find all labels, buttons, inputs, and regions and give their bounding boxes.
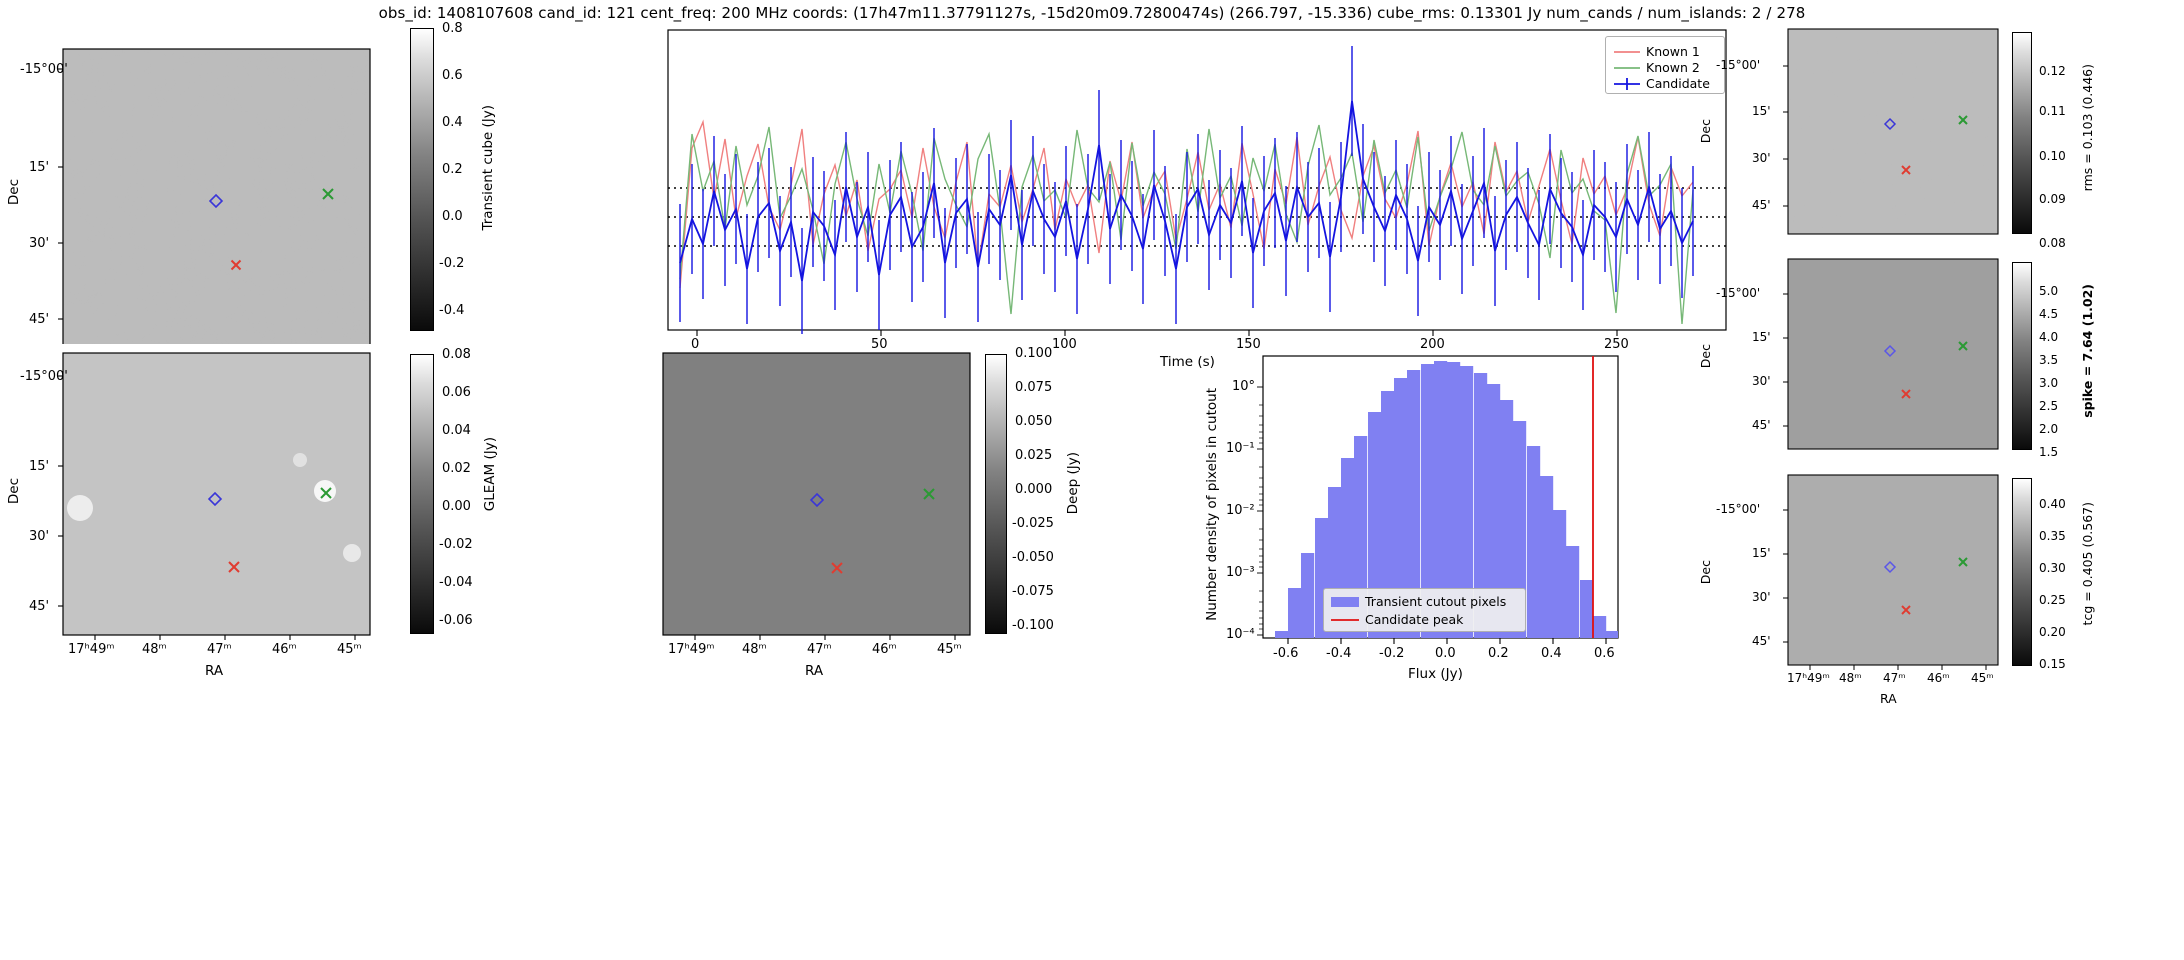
rms-dec-tick-1: 15' xyxy=(1752,104,1771,118)
cbar-deep-tick-2: 0.050 xyxy=(1015,414,1052,429)
gleam-ra-tick-0: 17ʰ49ᵐ xyxy=(68,642,114,657)
panel-rms-map[interactable]: -15°00' 15' 30' 45' Dec 0.12 0.11 0.10 0… xyxy=(1780,24,2184,244)
lightcurve-legend[interactable]: Known 1 Known 2 Candidate xyxy=(1605,36,1725,94)
rms-map-svg[interactable] xyxy=(1780,24,2184,244)
deep-ra-tick-0: 17ʰ49ᵐ xyxy=(668,642,714,657)
cbar-gleam-tick-5: -0.02 xyxy=(439,537,473,552)
deep-ra-tick-4: 45ᵐ xyxy=(937,642,962,657)
gleam-ra-tick-1: 48ᵐ xyxy=(142,642,167,657)
cbar-rms-tick-1: 0.11 xyxy=(2039,104,2066,118)
hist-ytick-0: 10° xyxy=(1232,379,1255,394)
figure-canvas: obs_id: 1408107608 cand_id: 121 cent_fre… xyxy=(0,0,2184,960)
deep-ra-tick-1: 48ᵐ xyxy=(742,642,767,657)
spike-map-svg[interactable] xyxy=(1780,256,2184,461)
spike-dec-tick-0: -15°00' xyxy=(1716,286,1760,300)
cbar-rms-tick-2: 0.10 xyxy=(2039,149,2066,163)
figure-title: obs_id: 1408107608 cand_id: 121 cent_fre… xyxy=(0,4,2184,22)
cbar-deep-tick-3: 0.025 xyxy=(1015,448,1052,463)
cbar-gleam-tick-1: 0.06 xyxy=(442,385,471,400)
legend-item-known1[interactable]: Known 1 xyxy=(1612,45,1720,59)
lightcurve-svg[interactable] xyxy=(620,24,1740,354)
hist-xtick-2: -0.2 xyxy=(1379,646,1404,661)
cbar-gleam-tick-7: -0.06 xyxy=(439,613,473,628)
tcg-ra-tick-3: 46ᵐ xyxy=(1927,671,1950,685)
hist-ytick-2: 10⁻² xyxy=(1226,503,1255,518)
cbar-deep-tick-8: -0.100 xyxy=(1012,618,1054,633)
hist-xtick-4: 0.2 xyxy=(1488,646,1509,661)
cbar-spike-tick-6: 2.0 xyxy=(2039,422,2058,436)
panel-lightcurve[interactable]: Known 1 Known 2 Candidate 0 50 100 150 2… xyxy=(620,24,1740,354)
hist-yaxis-label: Number density of pixels in cutout xyxy=(1204,388,1220,621)
cbar-deep-tick-7: -0.075 xyxy=(1012,584,1054,599)
gleam-ra-axis-label: RA xyxy=(205,663,223,679)
gleam-dec-tick-0: -15°00' xyxy=(20,369,68,384)
tcg-map-svg[interactable] xyxy=(1780,472,2184,687)
cbar-rms-tick-4: 0.08 xyxy=(2039,236,2066,250)
deep-ra-axis-label: RA xyxy=(805,663,823,679)
rms-dec-tick-0: -15°00' xyxy=(1716,58,1760,72)
cbar-spike-tick-1: 4.5 xyxy=(2039,307,2058,321)
hist-legend-label-pixels: Transient cutout pixels xyxy=(1365,594,1506,609)
cbar-tcg-tick-5: 0.15 xyxy=(2039,657,2066,671)
gleam-dec-tick-1: 15' xyxy=(29,459,49,474)
legend-label-candidate: Candidate xyxy=(1646,76,1710,91)
colorbar-spike[interactable] xyxy=(2012,262,2032,450)
cbar-spike-tick-7: 1.5 xyxy=(2039,445,2058,459)
legend-item-known2[interactable]: Known 2 xyxy=(1612,61,1720,75)
gleam-ra-tick-3: 46ᵐ xyxy=(272,642,297,657)
hist-xtick-3: 0.0 xyxy=(1435,646,1456,661)
gleam-dec-tick-3: 45' xyxy=(29,599,49,614)
rms-dec-axis-label: Dec xyxy=(1698,119,1713,143)
cbar-gleam-label: GLEAM (Jy) xyxy=(482,437,498,511)
colorbar-rms[interactable] xyxy=(2012,32,2032,234)
cbar-tcg-tick-1: 0.35 xyxy=(2039,529,2066,543)
cbar-rms-tick-0: 0.12 xyxy=(2039,64,2066,78)
legend-item-candidate[interactable]: Candidate xyxy=(1612,77,1720,91)
panel-tcg-map[interactable]: -15°00' 15' 30' 45' Dec 17ʰ49ᵐ 48ᵐ 47ᵐ 4… xyxy=(1780,472,2184,687)
cbar-gleam-tick-6: -0.04 xyxy=(439,575,473,590)
cbar-deep-tick-0: 0.100 xyxy=(1015,346,1052,361)
cbar-gleam-tick-3: 0.02 xyxy=(442,461,471,476)
dec-axis-label: Dec xyxy=(6,179,22,205)
dec-tick-0: -15°00' xyxy=(20,62,68,77)
gleam-dec-axis-label: Dec xyxy=(6,478,22,504)
cbar-tc-tick-6: -0.4 xyxy=(439,303,464,318)
cbar-rms-tick-3: 0.09 xyxy=(2039,192,2066,206)
colorbar-transient-cube[interactable]: 0.8 0.6 0.4 0.2 0.0 -0.2 -0.4 Transient … xyxy=(410,25,500,340)
rms-dec-tick-2: 30' xyxy=(1752,151,1771,165)
hist-legend-label-peak: Candidate peak xyxy=(1365,612,1463,627)
hist-ytick-3: 10⁻³ xyxy=(1226,565,1255,580)
panel-spike-map[interactable]: -15°00' 15' 30' 45' Dec 5.0 4.5 4.0 3.5 … xyxy=(1780,256,2184,461)
cbar-tcg-tick-4: 0.20 xyxy=(2039,625,2066,639)
cbar-tcg-tick-0: 0.40 xyxy=(2039,497,2066,511)
cbar-spike-label: spike = 7.64 (1.02) xyxy=(2080,284,2095,418)
cbar-deep-tick-1: 0.075 xyxy=(1015,380,1052,395)
legend-label-known1: Known 1 xyxy=(1646,44,1700,59)
hist-xtick-1: -0.4 xyxy=(1326,646,1351,661)
gleam-ra-tick-4: 45ᵐ xyxy=(337,642,362,657)
cbar-tcg-tick-3: 0.25 xyxy=(2039,593,2066,607)
cbar-deep-tick-6: -0.050 xyxy=(1012,550,1054,565)
spike-dec-axis-label: Dec xyxy=(1698,344,1713,368)
cbar-tcg-tick-2: 0.30 xyxy=(2039,561,2066,575)
cbar-deep-tick-5: -0.025 xyxy=(1012,516,1054,531)
cbar-tc-tick-0: 0.8 xyxy=(442,21,463,36)
tcg-ra-tick-0: 17ʰ49ᵐ xyxy=(1787,671,1830,685)
tcg-ra-tick-1: 48ᵐ xyxy=(1839,671,1862,685)
tcg-dec-tick-1: 15' xyxy=(1752,546,1771,560)
cbar-spike-tick-2: 4.0 xyxy=(2039,330,2058,344)
cbar-tc-tick-3: 0.2 xyxy=(442,162,463,177)
cbar-tc-tick-1: 0.6 xyxy=(442,68,463,83)
histogram-legend[interactable]: Transient cutout pixels Candidate peak xyxy=(1323,588,1526,632)
tcg-dec-tick-0: -15°00' xyxy=(1716,502,1760,516)
cbar-rms-label: rms = 0.103 (0.446) xyxy=(2080,64,2095,191)
cbar-tc-tick-5: -0.2 xyxy=(439,256,464,271)
spike-dec-tick-3: 45' xyxy=(1752,418,1771,432)
cbar-spike-tick-5: 2.5 xyxy=(2039,399,2058,413)
colorbar-deep[interactable]: 0.100 0.075 0.050 0.025 0.000 -0.025 -0.… xyxy=(985,352,1095,642)
spike-dec-tick-2: 30' xyxy=(1752,374,1771,388)
rms-dec-tick-3: 45' xyxy=(1752,198,1771,212)
hist-ytick-1: 10⁻¹ xyxy=(1226,441,1255,456)
dec-tick-1: 15' xyxy=(29,160,49,175)
cbar-gleam-tick-0: 0.08 xyxy=(442,347,471,362)
hist-xtick-0: -0.6 xyxy=(1273,646,1298,661)
gleam-dec-tick-2: 30' xyxy=(29,529,49,544)
cbar-tcg-label: tcg = 0.405 (0.567) xyxy=(2080,502,2095,625)
cbar-gleam-tick-2: 0.04 xyxy=(442,423,471,438)
dec-tick-2: 30' xyxy=(29,236,49,251)
hist-xtick-6: 0.6 xyxy=(1594,646,1615,661)
cbar-spike-tick-0: 5.0 xyxy=(2039,284,2058,298)
spike-dec-tick-1: 15' xyxy=(1752,330,1771,344)
deep-ra-tick-2: 47ᵐ xyxy=(807,642,832,657)
legend-label-known2: Known 2 xyxy=(1646,60,1700,75)
panel-flux-histogram[interactable]: 10° 10⁻¹ 10⁻² 10⁻³ 10⁻⁴ Number density o… xyxy=(1118,348,1778,683)
hist-ytick-4: 10⁻⁴ xyxy=(1226,627,1255,642)
cbar-tc-tick-2: 0.4 xyxy=(442,115,463,130)
hist-xtick-5: 0.4 xyxy=(1541,646,1562,661)
hist-xaxis-label: Flux (Jy) xyxy=(1408,666,1463,682)
tcg-ra-axis-label: RA xyxy=(1880,691,1897,706)
gleam-ra-tick-2: 47ᵐ xyxy=(207,642,232,657)
tcg-ra-tick-4: 45ᵐ xyxy=(1971,671,1994,685)
tcg-dec-tick-2: 30' xyxy=(1752,590,1771,604)
dec-tick-3: 45' xyxy=(29,312,49,327)
tcg-ra-tick-2: 47ᵐ xyxy=(1883,671,1906,685)
cbar-gleam-tick-4: 0.00 xyxy=(442,499,471,514)
cbar-deep-tick-4: 0.000 xyxy=(1015,482,1052,497)
tcg-dec-axis-label: Dec xyxy=(1698,560,1713,584)
deep-ra-tick-3: 46ᵐ xyxy=(872,642,897,657)
pixels-patch-icon xyxy=(1331,597,1359,607)
cbar-spike-tick-4: 3.0 xyxy=(2039,376,2058,390)
cbar-transient-cube-label: Transient cube (Jy) xyxy=(480,105,496,231)
colorbar-tcg[interactable] xyxy=(2012,478,2032,666)
cbar-deep-label: Deep (Jy) xyxy=(1065,452,1081,514)
cbar-spike-tick-3: 3.5 xyxy=(2039,353,2058,367)
colorbar-gleam[interactable]: 0.08 0.06 0.04 0.02 0.00 -0.02 -0.04 -0.… xyxy=(410,352,500,642)
cbar-tc-tick-4: 0.0 xyxy=(442,209,463,224)
tcg-dec-tick-3: 45' xyxy=(1752,634,1771,648)
